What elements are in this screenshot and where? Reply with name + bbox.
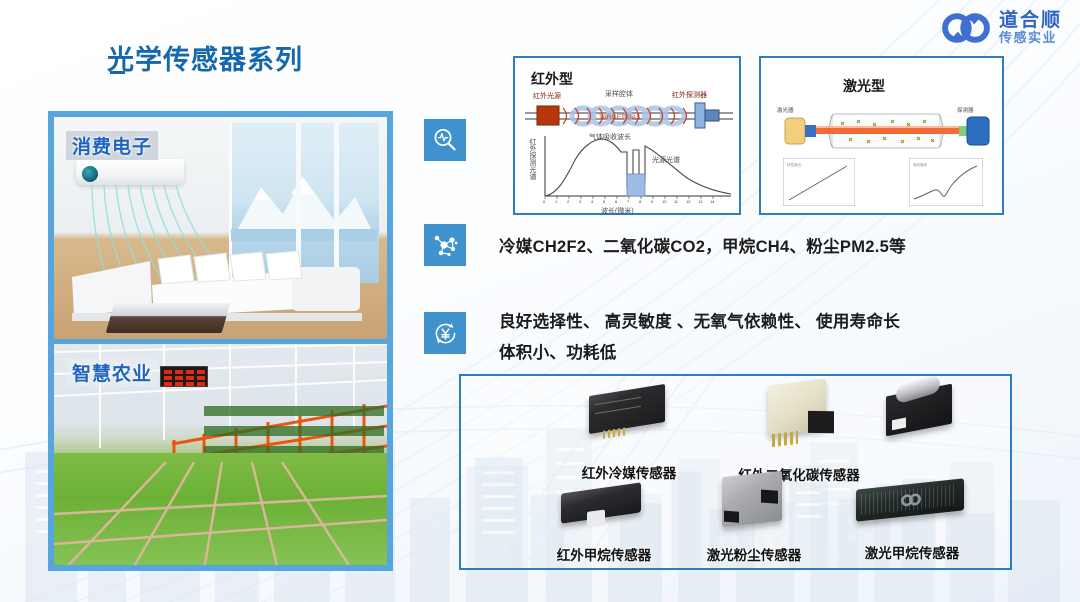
features-line-1: 良好选择性、 高灵敏度 、无氧气依赖性、 使用寿命长 xyxy=(499,308,900,332)
ac-vent-icon xyxy=(82,166,98,182)
photo-tag-smart-agriculture: 智慧农业 xyxy=(66,358,158,387)
svg-text:9: 9 xyxy=(651,199,654,204)
product-item-board-unlabeled xyxy=(861,390,981,452)
svg-text:TARGET GAS: TARGET GAS xyxy=(599,114,641,121)
svg-text:7: 7 xyxy=(627,199,630,204)
product-item-refrigerant: 红外冷媒传感器 xyxy=(549,390,709,482)
air-conditioner xyxy=(76,159,184,185)
svg-text:8: 8 xyxy=(639,199,642,204)
svg-text:6: 6 xyxy=(615,199,618,204)
svg-text:5: 5 xyxy=(603,199,606,204)
molecule-icon-tile xyxy=(424,224,466,266)
flat-black-sensor-image xyxy=(561,488,647,530)
sensor-body xyxy=(722,471,782,527)
diagram-infrared-type: 红外型 红外光源 采样腔体 红外探测器 气体吸收波长 光源光谱 红外探测光谱 波… xyxy=(513,56,741,215)
interlocking-rings-icon xyxy=(940,8,992,48)
svg-text:线性输出: 线性输出 xyxy=(787,162,801,167)
product-caption: 激光粉尘传感器 xyxy=(679,544,829,564)
sensor-connector xyxy=(808,411,834,433)
laser-plot-absorption: 吸收谱线 xyxy=(909,158,983,206)
diagram-laser-title: 激光型 xyxy=(843,76,885,96)
diagram-laser-type: 激光型 激光器 探测器 线性输出 xyxy=(759,56,1004,215)
title-underline xyxy=(110,71,125,74)
photo-consumer-electronics: 消费电子 xyxy=(54,117,387,339)
sensor-pins xyxy=(603,427,625,438)
sensor-body xyxy=(561,482,641,523)
svg-text:3: 3 xyxy=(579,199,582,204)
cream-module-sensor-image xyxy=(768,382,830,448)
product-gallery: 红外冷媒传感器 红外二氧化碳传感器 xyxy=(459,374,1012,570)
yen-recycle-icon xyxy=(432,320,459,347)
page-title: 光学传感器系列 xyxy=(107,38,303,77)
product-item-dust-laser: 激光粉尘传感器 xyxy=(679,474,829,564)
product-item-methane-ir: 红外甲烷传感器 xyxy=(529,488,679,564)
svg-text:吸收谱线: 吸收谱线 xyxy=(913,162,927,167)
svg-text:0: 0 xyxy=(543,199,546,204)
yen-recycle-icon-tile xyxy=(424,312,466,354)
svg-text:4: 4 xyxy=(591,199,594,204)
svg-text:11: 11 xyxy=(674,199,679,204)
molecule-icon xyxy=(432,232,459,259)
slide-root: 光学传感器系列 道合顺 传感实业 xyxy=(0,0,1080,602)
photo-tag-consumer-electronics: 消费电子 xyxy=(66,131,158,160)
svg-text:1: 1 xyxy=(555,199,558,204)
ir-optical-path: TARGET GAS xyxy=(525,98,733,132)
sensor-body xyxy=(768,378,826,435)
grey-cube-sensor-image xyxy=(722,474,786,532)
black-box-sensor-image xyxy=(589,390,669,446)
svg-text:10: 10 xyxy=(662,199,667,204)
svg-text:12: 12 xyxy=(686,199,691,204)
sensor-outlet xyxy=(724,511,739,523)
sensor-terminal xyxy=(892,418,906,431)
application-photo-panel: 消费电子 xyxy=(48,111,393,571)
sensor-logo-icon xyxy=(900,491,922,509)
brand-logo: 道合顺 传感实业 xyxy=(940,8,1062,48)
coffee-table xyxy=(106,303,231,333)
greenhouse-display-board xyxy=(160,366,208,387)
photo-smart-agriculture: 智慧农业 xyxy=(54,339,387,565)
gases-text: 冷媒CH2F2、二氧化碳CO2，甲烷CH4、粉尘PM2.5等 xyxy=(499,233,906,257)
logo-line-1: 道合顺 xyxy=(999,11,1062,31)
svg-text:2: 2 xyxy=(567,199,570,204)
ir-spectrum-plot: 012 345 678 91011 121314 xyxy=(535,136,735,208)
product-item-methane-laser: 激光甲烷传感器 xyxy=(829,484,995,562)
magnifier-pulse-icon-tile xyxy=(424,119,466,161)
laser-optical-path xyxy=(771,110,996,152)
led-digits xyxy=(161,367,209,388)
features-line-2: 体积小、功耗低 xyxy=(499,339,617,363)
diagram-ir-title: 红外型 xyxy=(531,69,573,89)
svg-text:14: 14 xyxy=(710,199,715,204)
board-cylinder-sensor-image xyxy=(886,390,956,442)
laser-plot-linear: 线性输出 xyxy=(783,158,855,206)
logo-line-2: 传感实业 xyxy=(999,31,1062,45)
sensor-body xyxy=(589,384,665,434)
sensor-window xyxy=(587,509,605,526)
sensor-body xyxy=(856,478,964,521)
product-caption: 红外甲烷传感器 xyxy=(529,544,679,564)
long-dark-sensor-image xyxy=(856,484,968,530)
magnifier-pulse-icon xyxy=(432,127,458,153)
sensor-inlet xyxy=(761,490,778,504)
sensor-pins xyxy=(772,431,798,447)
product-caption: 激光甲烷传感器 xyxy=(829,542,995,562)
sensor-body xyxy=(886,384,952,437)
svg-text:13: 13 xyxy=(698,199,703,204)
